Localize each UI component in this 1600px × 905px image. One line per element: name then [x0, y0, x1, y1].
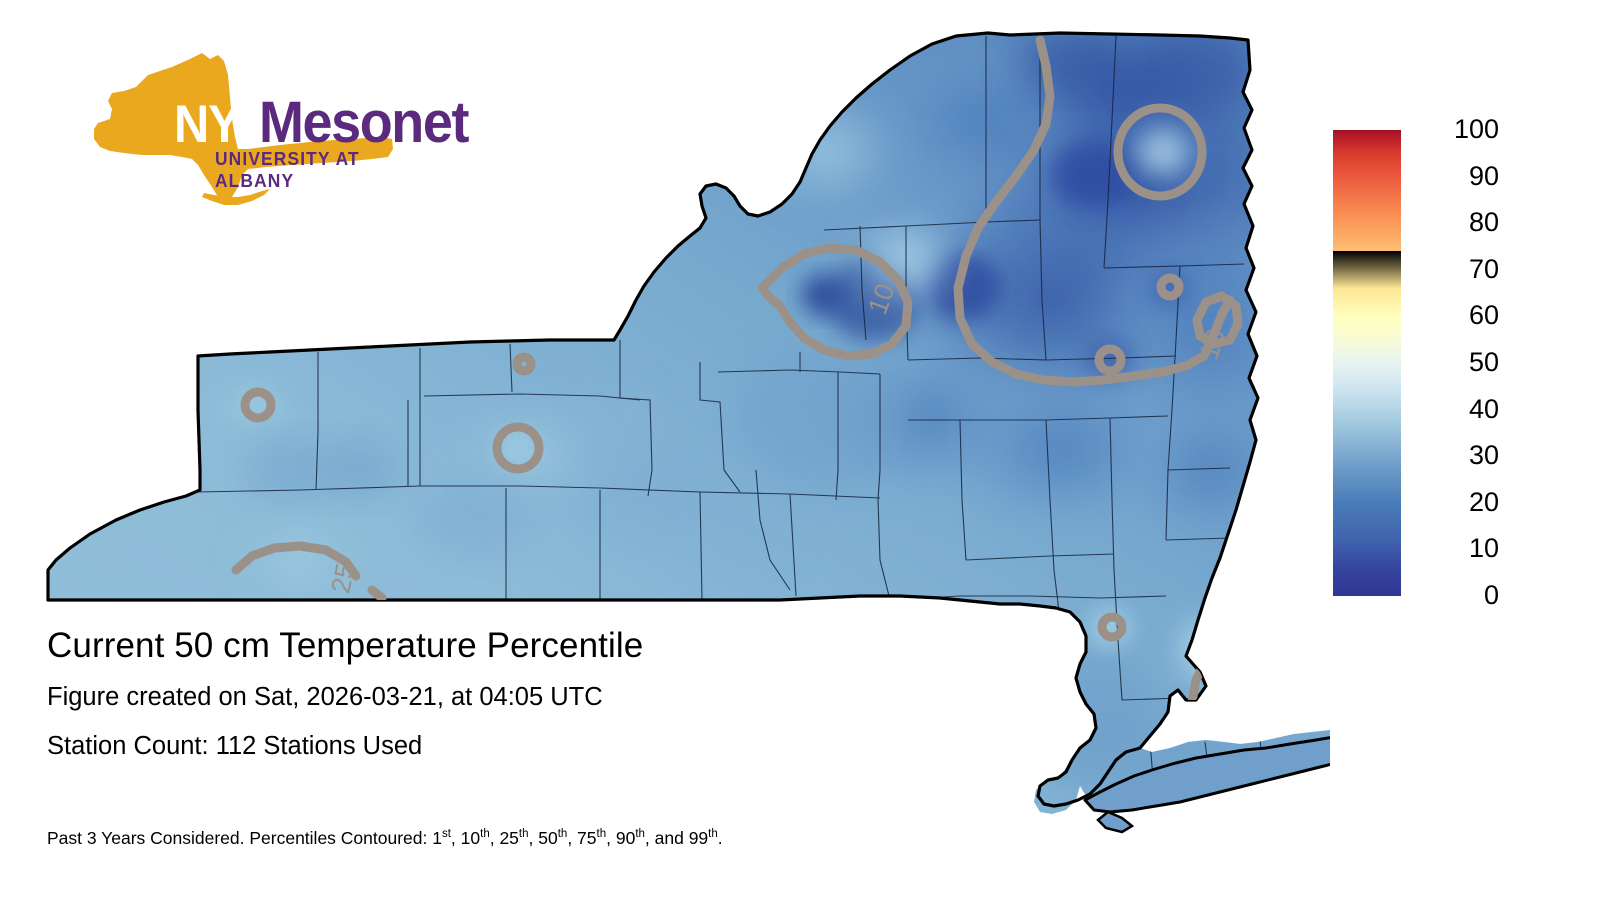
contour-label-25: 25: [325, 560, 361, 596]
colorbar: 1009080706050403020100: [1333, 130, 1401, 596]
footnote: Past 3 Years Considered. Percentiles Con…: [47, 828, 723, 849]
station-count: Station Count: 112 Stations Used: [47, 727, 1047, 765]
creation-timestamp: Figure created on Sat, 2026-03-21, at 04…: [47, 678, 1047, 716]
map-svg: 10 10 25: [0, 0, 1330, 900]
colorbar-tick-90: 90: [1409, 163, 1499, 190]
colorbar-tick-70: 70: [1409, 256, 1499, 283]
page-title: Current 50 cm Temperature Percentile: [47, 625, 1047, 667]
colorbar-tick-20: 20: [1409, 489, 1499, 516]
colorbar-tick-40: 40: [1409, 396, 1499, 423]
colorbar-tick-80: 80: [1409, 209, 1499, 236]
figure-canvas: NYS Mesonet UNIVERSITY AT ALBANY: [0, 0, 1600, 900]
new-york-percentile-map: 10 10 25: [0, 0, 1330, 900]
colorbar-gradient: [1333, 130, 1401, 596]
colorbar-tick-50: 50: [1409, 349, 1499, 376]
colorbar-tick-10: 10: [1409, 535, 1499, 562]
colorbar-tick-30: 30: [1409, 442, 1499, 469]
caption-block: Current 50 cm Temperature Percentile Fig…: [47, 625, 1047, 765]
colorbar-tick-60: 60: [1409, 302, 1499, 329]
colorbar-tick-100: 100: [1409, 116, 1499, 143]
colorbar-tick-0: 0: [1409, 582, 1499, 609]
